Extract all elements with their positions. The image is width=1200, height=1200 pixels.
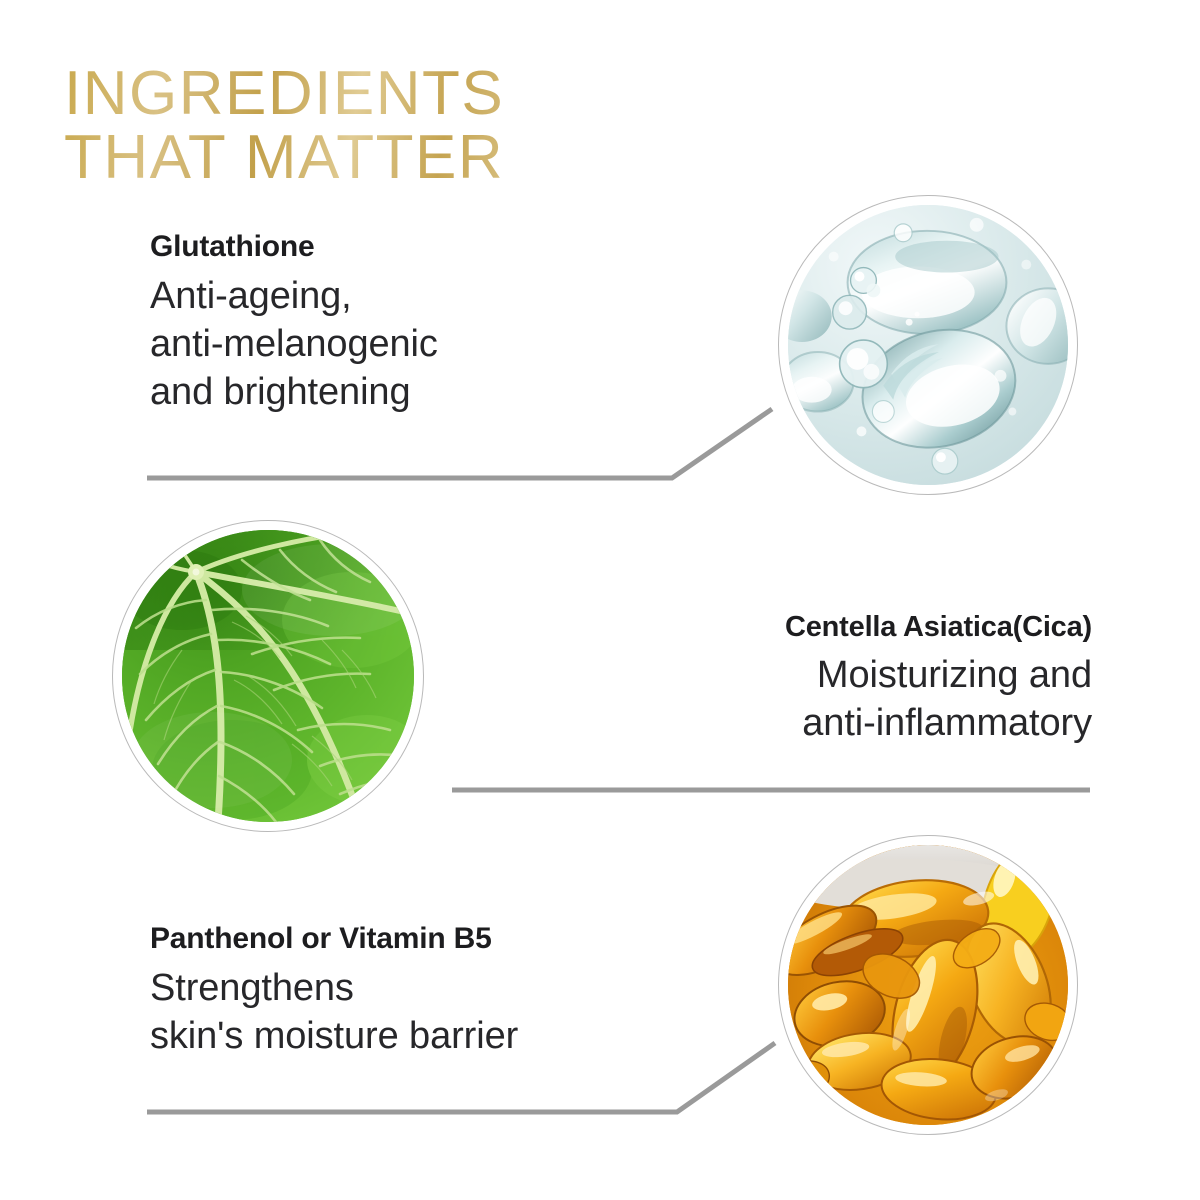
ingredient-block-glutathione: Glutathione Anti-ageing, anti-melanogeni… xyxy=(150,228,438,416)
oil-capsules-photo xyxy=(788,845,1068,1125)
connector-glutathione xyxy=(147,409,772,478)
ingredient-description-panthenol: Strengthens skin's moisture barrier xyxy=(150,964,518,1060)
page-title: INGREDIENTS THAT MATTER xyxy=(64,62,504,190)
ingredient-name-centella: Centella Asiatica(Cica) xyxy=(785,608,1092,646)
ingredient-block-panthenol: Panthenol or Vitamin B5 Strengthens skin… xyxy=(150,920,518,1060)
ingredient-image-panthenol xyxy=(778,835,1078,1135)
ingredient-image-centella xyxy=(112,520,424,832)
green-leaf-photo xyxy=(122,530,414,822)
ingredient-image-glutathione xyxy=(778,195,1078,495)
ingredient-name-panthenol: Panthenol or Vitamin B5 xyxy=(150,920,518,958)
ingredient-description-glutathione: Anti-ageing, anti-melanogenic and bright… xyxy=(150,272,438,416)
ingredients-infographic: INGREDIENTS THAT MATTER Glutathione Anti… xyxy=(0,0,1200,1200)
ingredient-name-glutathione: Glutathione xyxy=(150,228,438,266)
ingredient-description-centella: Moisturizing and anti-inflammatory xyxy=(785,651,1092,747)
ingredient-block-centella: Centella Asiatica(Cica) Moisturizing and… xyxy=(785,608,1092,747)
water-gel-droplets-photo xyxy=(788,205,1068,485)
